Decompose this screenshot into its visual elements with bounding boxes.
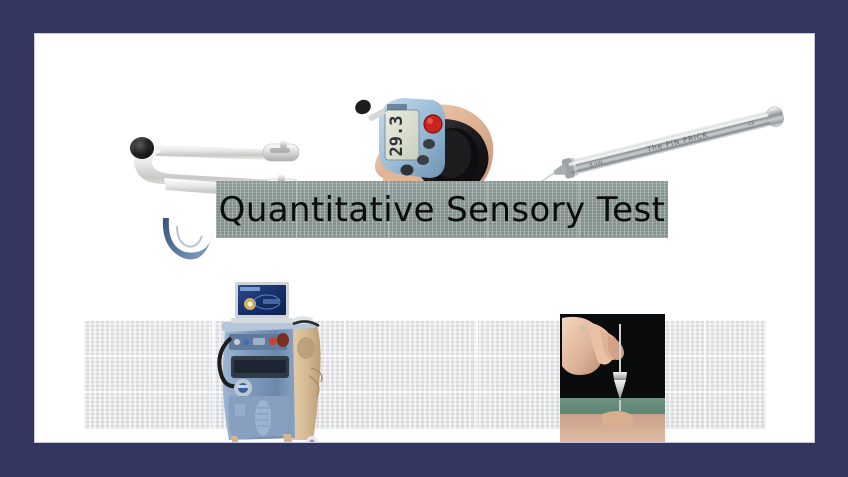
page-title: Quantitative Sensory Test — [219, 193, 666, 227]
probe-on-skin-image — [560, 314, 665, 443]
slide-canvas: 29.3 — [34, 33, 815, 443]
svg-text:29.3: 29.3 — [387, 116, 407, 157]
title-banner: Quantitative Sensory Test — [216, 181, 668, 238]
qst-cart-image — [207, 276, 335, 443]
institution-logo — [153, 212, 221, 268]
slide-frame: 29.3 — [0, 0, 848, 477]
